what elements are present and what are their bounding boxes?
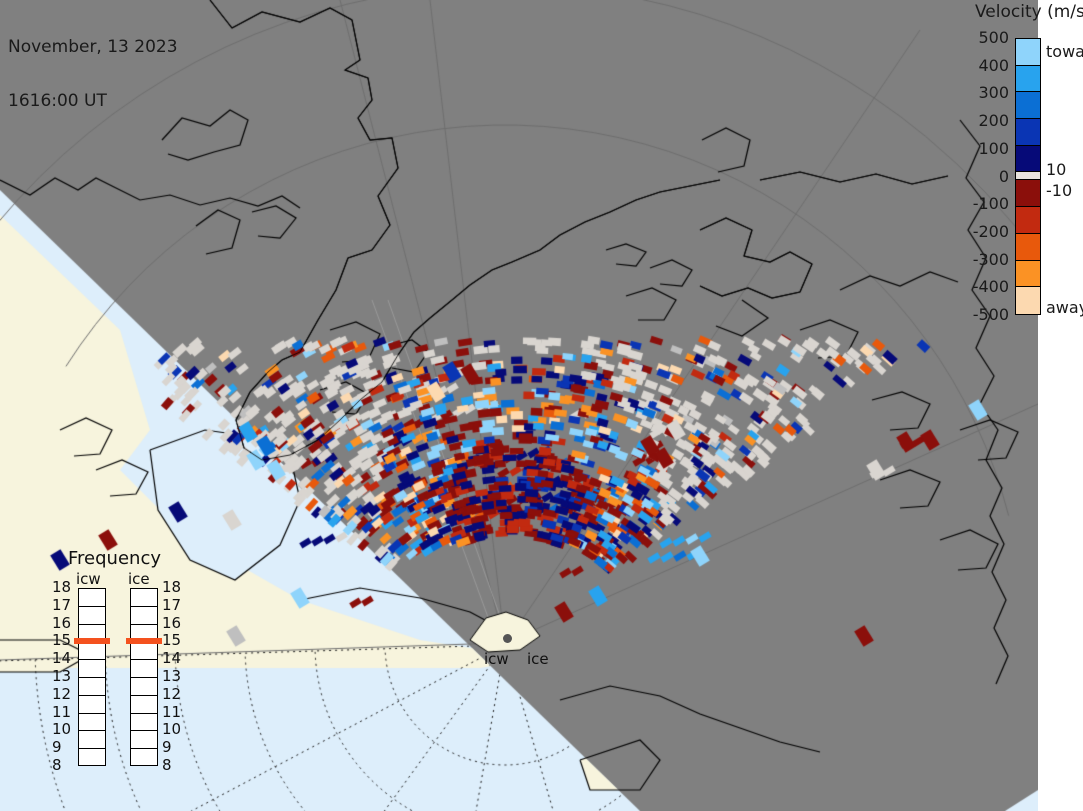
frequency-tick-label-right: 9: [162, 738, 172, 756]
date-label: November, 13 2023: [8, 38, 178, 56]
frequency-marker-icw: [74, 638, 110, 644]
frequency-tick-label-right: 17: [162, 596, 181, 614]
time-label: 1616:00 UT: [8, 92, 178, 110]
frequency-tick-label-left: 15: [52, 631, 71, 649]
frequency-bar-cell: [79, 642, 105, 660]
frequency-bar-cell: [131, 678, 157, 696]
frequency-bar-cell: [79, 607, 105, 625]
frequency-tick-label-left: 8: [52, 756, 62, 774]
frequency-bar-cell: [79, 589, 105, 607]
frequency-tick-label-right: 11: [162, 703, 181, 721]
frequency-bar-cell: [131, 642, 157, 660]
frequency-bar-cell: [79, 678, 105, 696]
frequency-tick-label-right: 16: [162, 614, 181, 632]
frequency-tick-label-left: 17: [52, 596, 71, 614]
frequency-tick-label-left: 10: [52, 720, 71, 738]
frequency-bar-icw[interactable]: [78, 588, 106, 766]
frequency-bar-cell: [79, 660, 105, 678]
frequency-bar-cell: [79, 696, 105, 714]
frequency-tick-label-right: 8: [162, 756, 172, 774]
frequency-bar-cell: [79, 714, 105, 732]
frequency-tick-label-right: 10: [162, 720, 181, 738]
frequency-bar-cell: [79, 749, 105, 767]
frequency-tick-label-left: 11: [52, 703, 71, 721]
frequency-tick-label-left: 14: [52, 649, 71, 667]
frequency-bar-cell: [131, 607, 157, 625]
frequency-tick-label-left: 13: [52, 667, 71, 685]
frequency-tick-label-right: 15: [162, 631, 181, 649]
superdarn-fan-plot: November, 13 2023 1616:00 UT Velocity (m…: [0, 0, 1083, 811]
frequency-tick-label-right: 13: [162, 667, 181, 685]
frequency-tick-label-left: 16: [52, 614, 71, 632]
frequency-bar-cell: [131, 714, 157, 732]
frequency-legend-ice-label: ice: [128, 570, 150, 588]
frequency-bar-cell: [131, 696, 157, 714]
frequency-tick-label-right: 14: [162, 649, 181, 667]
frequency-marker-ice: [126, 638, 162, 644]
frequency-tick-label-left: 12: [52, 685, 71, 703]
frequency-bar-cell: [131, 749, 157, 767]
frequency-tick-label-right: 18: [162, 578, 181, 596]
frequency-bar-cell: [131, 660, 157, 678]
right-side-panel: [1038, 0, 1083, 811]
frequency-legend-icw-label: icw: [76, 570, 101, 588]
site-label-icw: icw: [484, 650, 509, 668]
radar-site-marker: [503, 634, 512, 643]
frequency-tick-label-left: 18: [52, 578, 71, 596]
timestamp-block: November, 13 2023 1616:00 UT: [8, 2, 178, 146]
frequency-bar-cell: [131, 589, 157, 607]
frequency-bar-cell: [131, 731, 157, 749]
frequency-tick-label-right: 12: [162, 685, 181, 703]
frequency-bar-cell: [79, 731, 105, 749]
frequency-tick-label-left: 9: [52, 738, 62, 756]
site-label-ice: ice: [527, 650, 549, 668]
frequency-bar-ice[interactable]: [130, 588, 158, 766]
frequency-legend-title: Frequency: [68, 548, 161, 569]
